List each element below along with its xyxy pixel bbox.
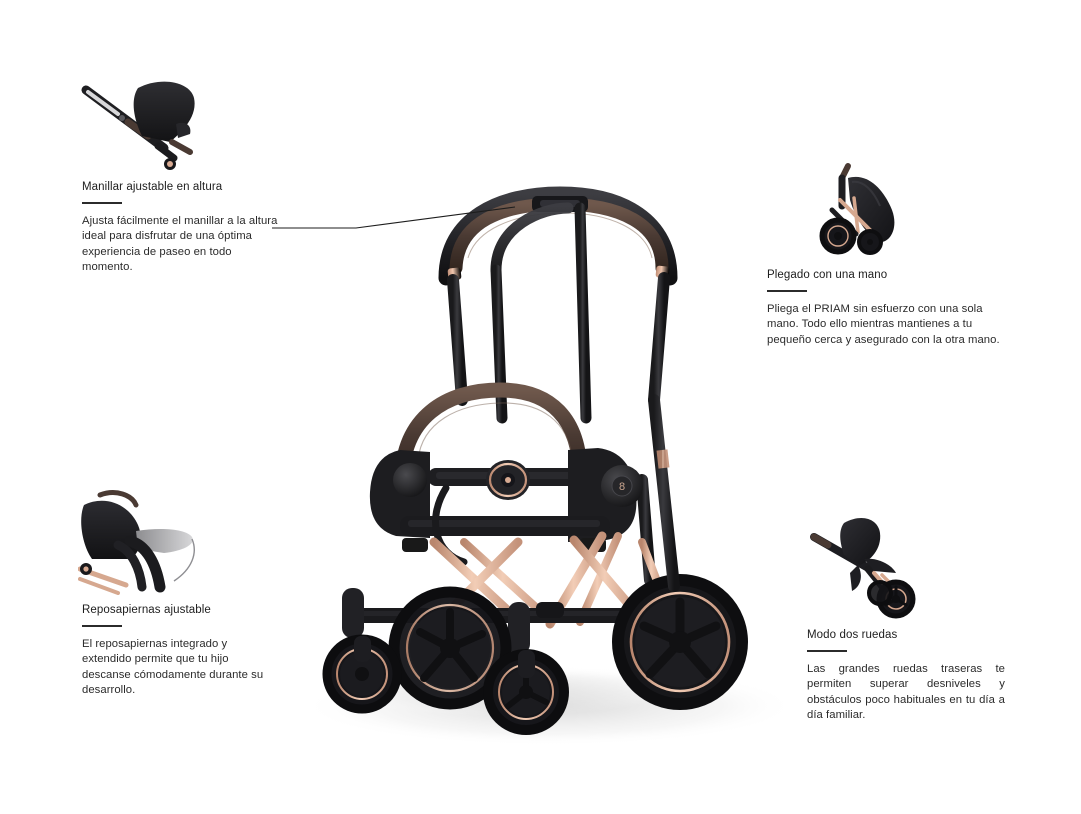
hero-product-image: 8	[250, 150, 830, 770]
feature-body: Ajusta fácilmente el manillar a la altur…	[82, 214, 278, 276]
svg-text:8: 8	[619, 481, 625, 493]
feature-two-wheel-mode: Modo dos ruedas Las grandes ruedas trase…	[807, 628, 1005, 724]
feature-body: Las grandes ruedas traseras te permiten …	[807, 662, 1005, 724]
feature-title: Modo dos ruedas	[807, 628, 1005, 643]
feature-title: Manillar ajustable en altura	[82, 180, 278, 195]
infographic-canvas: 8	[0, 0, 1081, 814]
front-left-post	[342, 588, 364, 638]
feature-legrest: Reposapiernas ajustable El reposapiernas…	[82, 603, 278, 699]
front-wheel-right	[488, 650, 564, 730]
thumbnail-folded	[812, 148, 932, 260]
feature-body: Pliega el PRIAM sin esfuerzo con una sol…	[767, 302, 1005, 348]
title-divider	[82, 625, 122, 627]
title-divider	[807, 650, 847, 652]
feature-title: Reposapiernas ajustable	[82, 603, 278, 618]
title-divider	[767, 290, 807, 292]
feature-handlebar: Manillar ajustable en altura Ajusta fáci…	[82, 180, 278, 276]
feature-one-hand-fold: Plegado con una mano Pliega el PRIAM sin…	[767, 268, 1005, 348]
thumbnail-handlebar	[78, 72, 208, 172]
rear-wheel-right	[618, 580, 742, 704]
feature-title: Plegado con una mano	[767, 268, 1005, 283]
feature-body: El reposapiernas integrado y extendido p…	[82, 637, 278, 699]
thumbnail-legrest	[78, 483, 210, 595]
front-wheel-left	[327, 636, 397, 709]
thumbnail-two-wheel	[808, 503, 928, 621]
title-divider	[82, 202, 122, 204]
